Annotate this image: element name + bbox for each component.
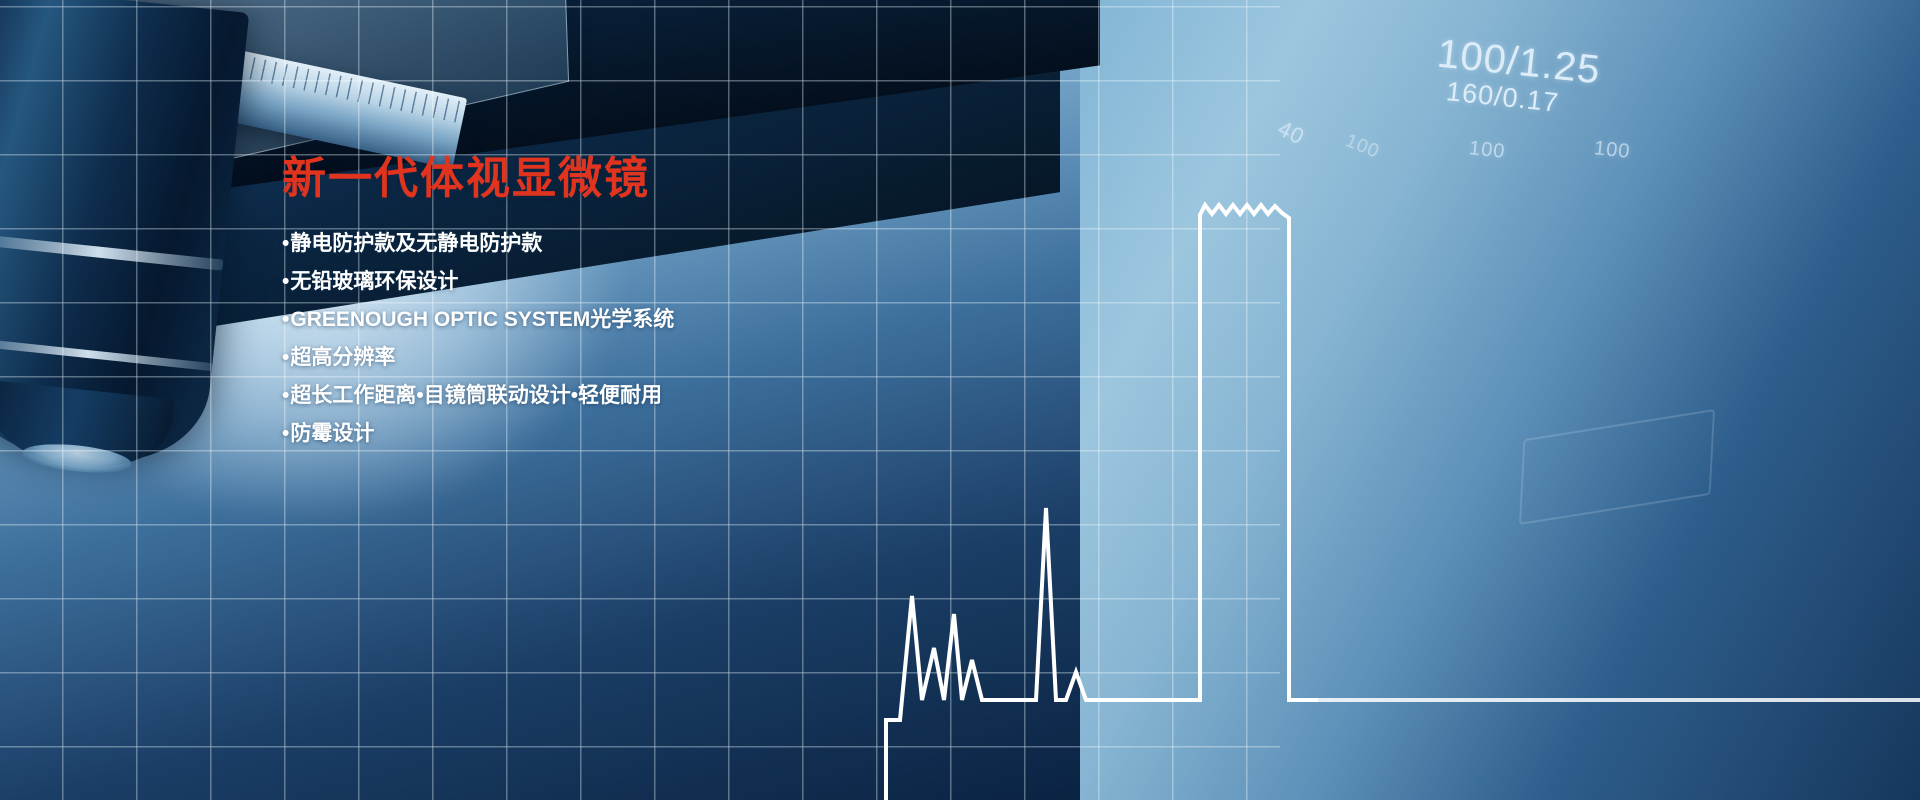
list-item-label: 无铅玻璃环保设计 [290, 270, 458, 293]
bullet-marker-icon: • [282, 384, 289, 407]
list-item-label: 超高分辨率 [290, 346, 395, 369]
list-item: •防霉设计 [282, 423, 822, 444]
list-item-label: GREENOUGH OPTIC SYSTEM光学系统 [290, 308, 674, 331]
banner-copy-block: 新一代体视显微镜 •静电防护款及无静电防护款 •无铅玻璃环保设计 •GREENO… [282, 155, 822, 461]
list-item-label: 静电防护款及无静电防护款 [290, 232, 542, 255]
bullet-marker-icon: • [282, 270, 289, 293]
list-item-label: 超长工作距离•目镜筒联动设计•轻便耐用 [290, 384, 662, 407]
bullet-marker-icon: • [282, 308, 289, 331]
feature-bullet-list: •静电防护款及无静电防护款 •无铅玻璃环保设计 •GREENOUGH OPTIC… [282, 233, 822, 444]
hero-banner: 100/1.25 160/0.17 40 100 100 100 新一代体视显微… [0, 0, 1920, 800]
list-item: •超长工作距离•目镜筒联动设计•轻便耐用 [282, 385, 822, 406]
list-item: •超高分辨率 [282, 347, 822, 368]
waveform-path [886, 205, 1920, 800]
list-item: •GREENOUGH OPTIC SYSTEM光学系统 [282, 309, 822, 330]
bullet-marker-icon: • [282, 422, 289, 445]
list-item: •无铅玻璃环保设计 [282, 271, 822, 292]
bullet-marker-icon: • [282, 232, 289, 255]
bullet-marker-icon: • [282, 346, 289, 369]
page-title: 新一代体视显微镜 [282, 155, 822, 203]
list-item-label: 防霉设计 [290, 422, 374, 445]
list-item: •静电防护款及无静电防护款 [282, 233, 822, 254]
